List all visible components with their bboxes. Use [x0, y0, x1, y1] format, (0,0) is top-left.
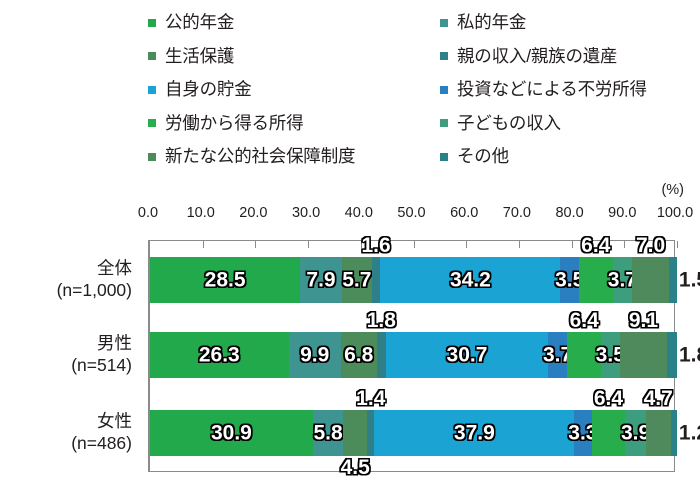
- x-axis-tick-label: 10.0: [187, 205, 215, 221]
- x-axis-tick-labels: 0.010.020.030.040.050.060.070.080.090.01…: [0, 205, 700, 225]
- bar-segment: 1.4: [367, 410, 374, 456]
- bar-segment: 9.1: [620, 332, 668, 378]
- category-sample-size: (n=514): [71, 354, 132, 376]
- bar-segment-value: 26.3: [199, 345, 240, 366]
- bar-segment-value: 1.8: [679, 345, 700, 366]
- bar-segment-value: 1.6: [361, 235, 390, 256]
- legend-item-label: 公的年金: [165, 14, 234, 32]
- plot-area: 28.57.95.71.634.23.56.43.77.01.526.39.96…: [148, 240, 675, 472]
- square-marker-icon: [148, 86, 156, 94]
- bar-segment: 30.9: [150, 410, 313, 456]
- legend-item[interactable]: その他: [440, 148, 688, 166]
- bar-segment: 28.5: [150, 257, 300, 303]
- x-axis-tick-label: 40.0: [345, 205, 373, 221]
- axis-tick-mark: [414, 241, 415, 248]
- axis-tick-mark: [466, 241, 467, 248]
- axis-tick-mark: [572, 241, 573, 248]
- chart-legend: 公的年金私的年金生活保護親の収入/親族の遺産自身の貯金投資などによる不労所得労働…: [148, 6, 688, 176]
- bar-segment-value: 1.8: [367, 310, 396, 331]
- axis-tick-mark: [203, 241, 204, 248]
- bar-segment: 6.8: [341, 332, 377, 378]
- legend-item-label: 親の収入/親族の遺産: [457, 48, 617, 66]
- bar-segment-value: 4.7: [644, 388, 673, 409]
- bar-segment: 7.9: [300, 257, 342, 303]
- legend-item-label: 私的年金: [457, 14, 526, 32]
- stacked-bar-row: 26.39.96.81.830.73.76.43.59.11.8: [150, 332, 677, 378]
- x-axis-tick-label: 20.0: [239, 205, 267, 221]
- bar-segment-value: 34.2: [450, 270, 491, 291]
- category-name: 全体: [57, 257, 132, 279]
- axis-unit-label: (%): [661, 182, 684, 198]
- category-sample-size: (n=486): [71, 432, 132, 454]
- bar-segment-value: 4.5: [341, 457, 370, 478]
- stacked-bar-row: 30.95.84.51.437.93.36.43.94.71.2: [150, 410, 677, 456]
- legend-item[interactable]: 生活保護: [148, 48, 440, 66]
- legend-item[interactable]: 私的年金: [440, 14, 688, 32]
- bar-segment-value: 30.9: [211, 423, 252, 444]
- legend-item-label: その他: [457, 148, 509, 166]
- bar-segment: 3.5: [560, 257, 578, 303]
- x-axis-tick-label: 30.0: [292, 205, 320, 221]
- square-marker-icon: [148, 153, 156, 161]
- square-marker-icon: [440, 153, 448, 161]
- axis-tick-mark: [308, 241, 309, 248]
- category-sample-size: (n=1,000): [57, 279, 132, 301]
- bar-segment-value: 1.2: [679, 423, 700, 444]
- x-axis-tick-label: 80.0: [555, 205, 583, 221]
- square-marker-icon: [148, 19, 156, 27]
- bar-segment-value: 6.4: [570, 310, 599, 331]
- square-marker-icon: [440, 119, 448, 127]
- bar-segment-value: 5.7: [342, 270, 371, 291]
- bar-segment: 4.7: [646, 410, 671, 456]
- x-axis-tick-label: 100.0: [657, 205, 693, 221]
- bar-segment-value: 28.5: [205, 270, 246, 291]
- x-axis-tick-label: 60.0: [450, 205, 478, 221]
- category-name: 男性: [71, 332, 132, 354]
- bar-segment: 9.9: [289, 332, 341, 378]
- axis-tick-mark: [624, 241, 625, 248]
- bar-segment: 6.4: [592, 410, 626, 456]
- bar-segment: 4.5: [343, 410, 367, 456]
- bar-segment: 30.7: [386, 332, 548, 378]
- square-marker-icon: [148, 52, 156, 60]
- x-axis-tick-label: 50.0: [397, 205, 425, 221]
- legend-item[interactable]: 労働から得る所得: [148, 115, 440, 133]
- bar-segment-value: 7.9: [306, 270, 335, 291]
- bar-segment: 3.7: [548, 332, 567, 378]
- bar-segment: 34.2: [380, 257, 560, 303]
- axis-tick-mark: [255, 241, 256, 248]
- square-marker-icon: [148, 119, 156, 127]
- bar-segment-value: 5.8: [314, 423, 343, 444]
- x-axis-tick-label: 90.0: [608, 205, 636, 221]
- bar-segment: 1.6: [372, 257, 380, 303]
- y-axis-category-labels: 全体(n=1,000)男性(n=514)女性(n=486): [0, 240, 140, 472]
- category-label-1: 男性(n=514): [71, 332, 132, 376]
- bar-segment: 7.0: [632, 257, 669, 303]
- category-label-0: 全体(n=1,000): [57, 257, 132, 301]
- axis-tick-mark: [361, 241, 362, 248]
- bar-segment: 3.9: [625, 410, 646, 456]
- bar-segment: 3.3: [574, 410, 591, 456]
- bar-segment-value: 1.4: [356, 388, 385, 409]
- category-name: 女性: [71, 410, 132, 432]
- bar-segment: 26.3: [150, 332, 289, 378]
- bar-segment: 6.4: [579, 257, 613, 303]
- legend-item-label: 投資などによる不労所得: [457, 81, 647, 99]
- bar-segment-value: 7.0: [636, 235, 665, 256]
- legend-item[interactable]: 公的年金: [148, 14, 440, 32]
- legend-item-label: 自身の貯金: [165, 81, 252, 99]
- legend-item-label: 生活保護: [165, 48, 234, 66]
- bar-segment: 6.4: [567, 332, 601, 378]
- legend-item[interactable]: 投資などによる不労所得: [440, 81, 688, 99]
- bar-segment-value: 6.8: [344, 345, 373, 366]
- category-label-2: 女性(n=486): [71, 410, 132, 454]
- bar-segment-value: 6.4: [581, 235, 610, 256]
- bar-segment: 1.2: [671, 410, 677, 456]
- legend-item[interactable]: 親の収入/親族の遺産: [440, 48, 688, 66]
- bar-segment-value: 9.1: [629, 310, 658, 331]
- bar-segment-value: 6.4: [594, 388, 623, 409]
- legend-item-label: 子どもの収入: [457, 115, 561, 133]
- bar-segment: 5.7: [342, 257, 372, 303]
- x-axis-tick-label: 0.0: [138, 205, 158, 221]
- bar-segment-value: 1.5: [679, 270, 700, 291]
- bar-segment: 3.7: [613, 257, 632, 303]
- legend-item[interactable]: 子どもの収入: [440, 115, 688, 133]
- square-marker-icon: [440, 86, 448, 94]
- legend-item-label: 新たな公的社会保障制度: [165, 148, 355, 166]
- square-marker-icon: [440, 52, 448, 60]
- bar-segment: 3.5: [601, 332, 619, 378]
- axis-tick-mark: [519, 241, 520, 248]
- legend-item-label: 労働から得る所得: [165, 115, 303, 133]
- legend-item[interactable]: 自身の貯金: [148, 81, 440, 99]
- bar-segment: 1.8: [667, 332, 676, 378]
- bar-segment: 1.5: [669, 257, 677, 303]
- x-axis-tick-label: 70.0: [503, 205, 531, 221]
- bar-segment: 1.8: [377, 332, 386, 378]
- bar-segment: 37.9: [374, 410, 574, 456]
- bar-segment-value: 30.7: [447, 345, 488, 366]
- bar-segment: 5.8: [313, 410, 344, 456]
- bar-segment-value: 9.9: [300, 345, 329, 366]
- legend-item[interactable]: 新たな公的社会保障制度: [148, 148, 440, 166]
- bar-segment-value: 37.9: [454, 423, 495, 444]
- square-marker-icon: [440, 19, 448, 27]
- axis-tick-mark: [677, 241, 678, 248]
- stacked-bar-row: 28.57.95.71.634.23.56.43.77.01.5: [150, 257, 677, 303]
